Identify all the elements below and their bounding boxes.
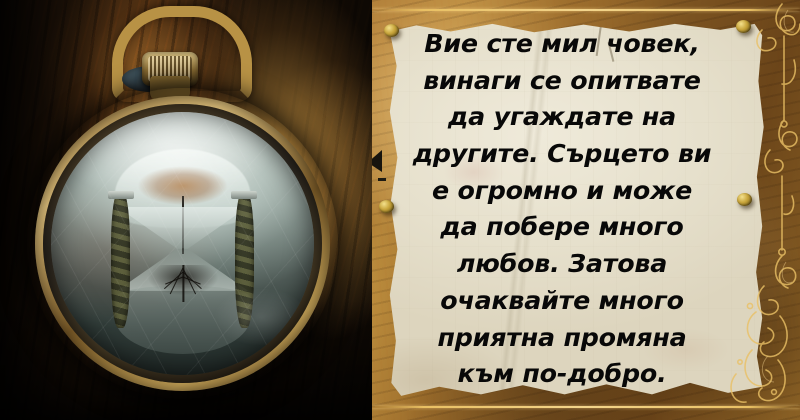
paper-creases	[386, 20, 766, 402]
gold-rule-bottom	[372, 406, 800, 408]
hourglass-upper-funnel	[117, 207, 249, 249]
paper-tear-mark	[608, 42, 614, 62]
paper-stains	[386, 20, 766, 402]
tree-roots-icon	[130, 265, 235, 328]
parchment-quote-card	[372, 0, 800, 420]
tack-top-right-icon	[736, 20, 751, 33]
tack-mid-right-icon	[737, 193, 752, 206]
tack-mid-left-icon	[379, 200, 394, 213]
gold-rule-top	[372, 9, 800, 11]
tack-top-left-icon	[384, 24, 399, 37]
hourglass-pillar-left	[111, 191, 129, 328]
watch-dial-hourglass-scene	[51, 112, 314, 375]
torn-paper-note	[386, 20, 766, 402]
hourglass-cap-left	[108, 191, 134, 199]
paper-edge-nick	[378, 178, 386, 181]
image-canvas: Вие сте мил човек,винаги се опитватеда у…	[0, 0, 800, 420]
pocket-watch-photo	[0, 0, 372, 420]
pocket-watch	[27, 88, 338, 399]
hourglass-pillar-right	[235, 191, 253, 328]
hourglass-cap-right	[231, 191, 257, 199]
